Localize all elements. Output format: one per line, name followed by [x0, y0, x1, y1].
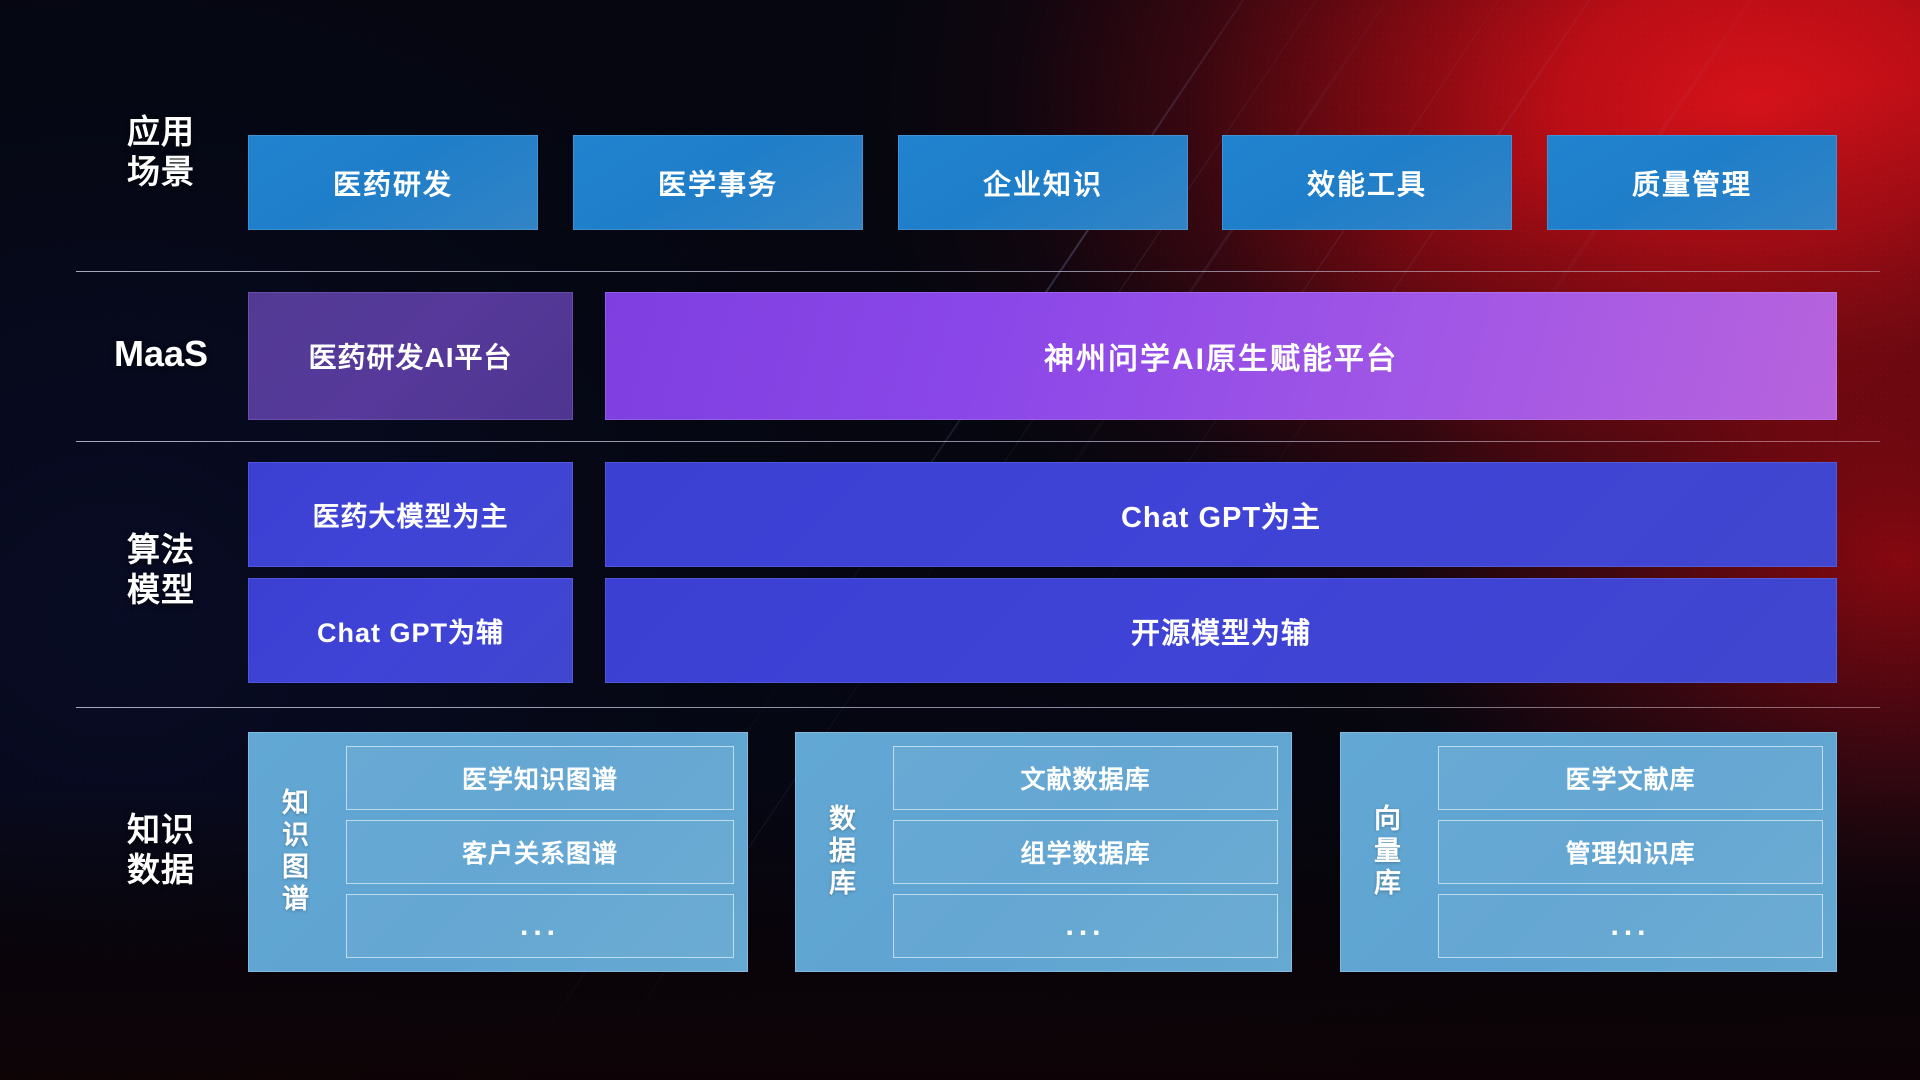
- algorithm-box-right-primary[interactable]: Chat GPT为主: [605, 462, 1837, 567]
- knowledge-panel-2-item-2[interactable]: 组学数据库: [893, 820, 1278, 884]
- algorithm-box-left-secondary[interactable]: Chat GPT为辅: [248, 578, 573, 683]
- row-label-scenario-line1: 应用: [76, 112, 246, 152]
- scenario-box-2[interactable]: 医学事务: [573, 135, 863, 230]
- knowledge-panel-1-title-char-4: 谱: [282, 884, 310, 916]
- scenario-box-1[interactable]: 医药研发: [248, 135, 538, 230]
- knowledge-panel-1-item-1[interactable]: 医学知识图谱: [346, 746, 734, 810]
- knowledge-panel-3-item-1[interactable]: 医学文献库: [1438, 746, 1823, 810]
- knowledge-panel-3-title-char-1: 向: [1374, 804, 1402, 836]
- knowledge-panel-vector-store: 向 量 库 医学文献库 管理知识库 ...: [1340, 732, 1837, 972]
- scenario-box-3[interactable]: 企业知识: [898, 135, 1188, 230]
- knowledge-panel-knowledge-graph: 知 识 图 谱 医学知识图谱 客户关系图谱 ...: [248, 732, 748, 972]
- knowledge-panel-1-title-char-3: 图: [282, 852, 310, 884]
- row-label-algorithm: 算法 模型: [76, 530, 246, 610]
- row-label-knowledge-line1: 知识: [76, 810, 246, 850]
- scenario-box-5[interactable]: 质量管理: [1547, 135, 1837, 230]
- architecture-diagram: 应用 场景 MaaS 算法 模型 知识 数据 医药研发 医学事务 企业知识 效能…: [0, 0, 1920, 1080]
- divider-algorithm-knowledge: [76, 707, 1880, 708]
- knowledge-panel-1-items: 医学知识图谱 客户关系图谱 ...: [332, 746, 734, 958]
- knowledge-panel-3-title-char-3: 库: [1374, 868, 1402, 900]
- knowledge-panel-2-title-char-2: 据: [829, 836, 857, 868]
- row-label-algorithm-line2: 模型: [76, 570, 246, 610]
- knowledge-panel-2-item-1[interactable]: 文献数据库: [893, 746, 1278, 810]
- algorithm-box-right-secondary[interactable]: 开源模型为辅: [605, 578, 1837, 683]
- knowledge-panel-2-title-char-1: 数: [829, 804, 857, 836]
- row-label-scenario-line2: 场景: [76, 152, 246, 192]
- row-label-maas: MaaS: [76, 334, 246, 374]
- divider-scenario-maas: [76, 271, 1880, 272]
- knowledge-panel-1-item-2[interactable]: 客户关系图谱: [346, 820, 734, 884]
- knowledge-panel-3-item-2[interactable]: 管理知识库: [1438, 820, 1823, 884]
- row-label-algorithm-line1: 算法: [76, 530, 246, 570]
- knowledge-panel-database: 数 据 库 文献数据库 组学数据库 ...: [795, 732, 1292, 972]
- knowledge-panel-3-items: 医学文献库 管理知识库 ...: [1424, 746, 1823, 958]
- row-label-scenario: 应用 场景: [76, 112, 246, 192]
- knowledge-panel-1-title-char-1: 知: [282, 788, 310, 820]
- knowledge-panel-2-item-3[interactable]: ...: [893, 894, 1278, 958]
- knowledge-panel-1-item-3[interactable]: ...: [346, 894, 734, 958]
- knowledge-panel-2-title-char-3: 库: [829, 868, 857, 900]
- knowledge-panel-3-title-char-2: 量: [1374, 836, 1402, 868]
- divider-maas-algorithm: [76, 441, 1880, 442]
- row-label-knowledge: 知识 数据: [76, 810, 246, 890]
- knowledge-panel-2-items: 文献数据库 组学数据库 ...: [879, 746, 1278, 958]
- scenario-box-4[interactable]: 效能工具: [1222, 135, 1512, 230]
- knowledge-panel-1-title-char-2: 识: [282, 820, 310, 852]
- maas-box-shenzhou-platform[interactable]: 神州问学AI原生赋能平台: [605, 292, 1837, 420]
- knowledge-panel-3-item-3[interactable]: ...: [1438, 894, 1823, 958]
- knowledge-panel-2-title: 数 据 库: [807, 746, 879, 958]
- algorithm-box-left-primary[interactable]: 医药大模型为主: [248, 462, 573, 567]
- maas-box-pharma-ai-platform[interactable]: 医药研发AI平台: [248, 292, 573, 420]
- knowledge-panel-1-title: 知 识 图 谱: [260, 746, 332, 958]
- knowledge-panel-3-title: 向 量 库: [1352, 746, 1424, 958]
- row-label-knowledge-line2: 数据: [76, 850, 246, 890]
